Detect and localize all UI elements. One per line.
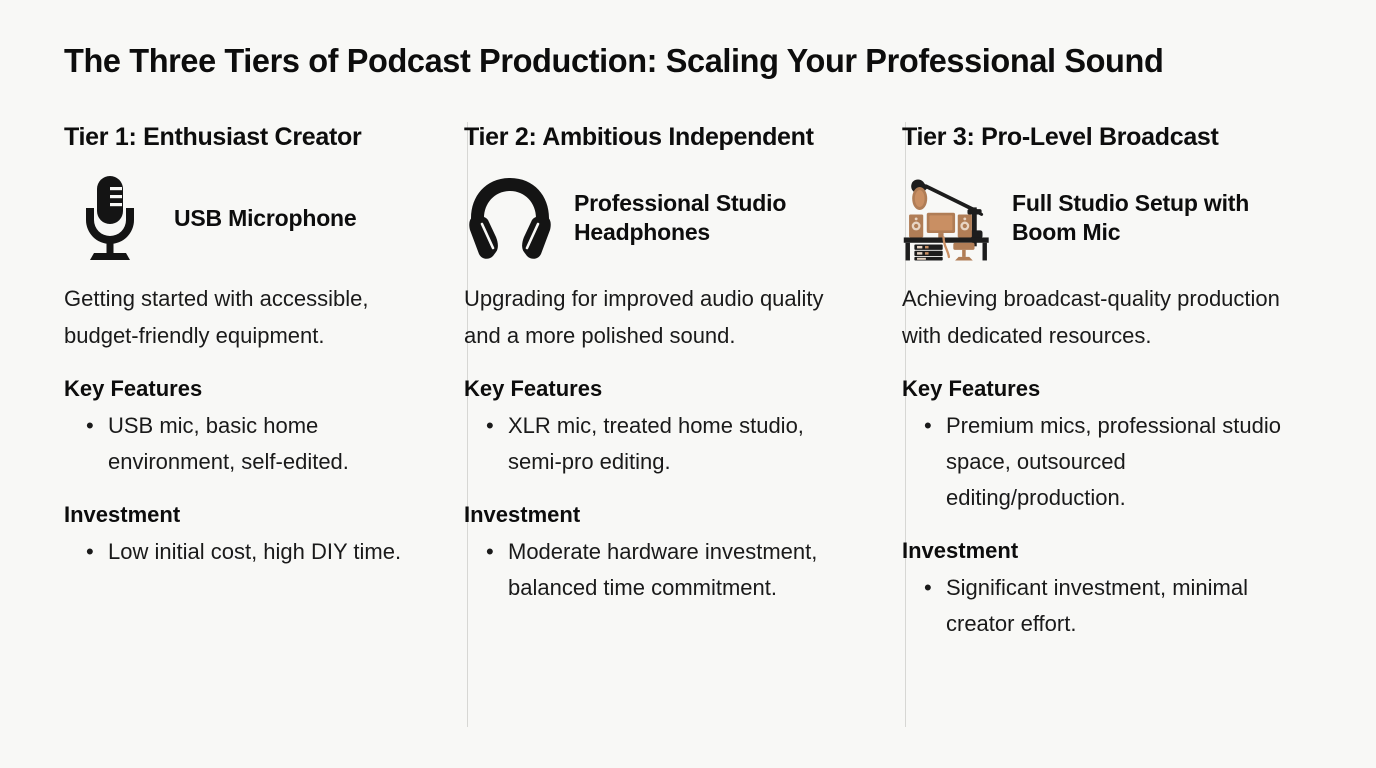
tier-3-icon-row: Full Studio Setup with Boom Mic <box>902 172 1318 264</box>
tier-2-key-features-section: Key Features XLR mic, treated home studi… <box>464 374 848 480</box>
tier-2-key-features-title: Key Features <box>464 374 848 404</box>
list-item: Premium mics, professional studio space,… <box>924 408 1294 516</box>
tier-1-investment-list: Low initial cost, high DIY time. <box>64 534 410 570</box>
tier-2-icon-row: Professional Studio Headphones <box>464 172 848 264</box>
list-item: XLR mic, treated home studio, semi-pro e… <box>486 408 836 480</box>
tier-3-investment-list: Significant investment, minimal creator … <box>902 570 1318 642</box>
tier-1-investment-title: Investment <box>64 500 410 530</box>
list-item: USB mic, basic home environment, self-ed… <box>86 408 410 480</box>
tier-1-key-features-list: USB mic, basic home environment, self-ed… <box>64 408 410 480</box>
tier-1-icon-row: USB Microphone <box>64 172 410 264</box>
tier-2-heading: Tier 2: Ambitious Independent <box>464 122 848 152</box>
tier-3-key-features-section: Key Features Premium mics, professional … <box>902 374 1318 516</box>
tier-1-investment-section: Investment Low initial cost, high DIY ti… <box>64 500 410 570</box>
tier-2-investment-title: Investment <box>464 500 848 530</box>
tier-3-item-name: Full Studio Setup with Boom Mic <box>1012 189 1318 247</box>
tier-3-key-features-title: Key Features <box>902 374 1318 404</box>
tier-3-investment-section: Investment Significant investment, minim… <box>902 536 1318 642</box>
tier-2-description: Upgrading for improved audio quality and… <box>464 280 824 354</box>
tier-2-item-name: Professional Studio Headphones <box>574 189 848 247</box>
tier-column-3: Tier 3: Pro-Level Broadcast <box>876 122 1346 732</box>
list-item: Moderate hardware investment, balanced t… <box>486 534 836 606</box>
infographic-root: The Three Tiers of Podcast Production: S… <box>0 0 1376 768</box>
tier-1-heading: Tier 1: Enthusiast Creator <box>64 122 410 152</box>
headphones-icon <box>464 172 556 264</box>
tier-columns: Tier 1: Enthusiast Creator <box>0 122 1376 732</box>
tier-3-description: Achieving broadcast-quality production w… <box>902 280 1282 354</box>
tier-2-key-features-list: XLR mic, treated home studio, semi-pro e… <box>464 408 848 480</box>
tier-3-key-features-list: Premium mics, professional studio space,… <box>902 408 1318 516</box>
tier-1-key-features-title: Key Features <box>64 374 410 404</box>
tier-1-description: Getting started with accessible, budget-… <box>64 280 410 354</box>
tier-1-item-name: USB Microphone <box>174 204 356 233</box>
tier-1-key-features-section: Key Features USB mic, basic home environ… <box>64 374 410 480</box>
studio-desk-boom-mic-icon <box>902 172 994 264</box>
tier-2-investment-list: Moderate hardware investment, balanced t… <box>464 534 848 606</box>
list-item: Low initial cost, high DIY time. <box>86 534 410 570</box>
tier-column-1: Tier 1: Enthusiast Creator <box>0 122 438 732</box>
tier-3-heading: Tier 3: Pro-Level Broadcast <box>902 122 1318 152</box>
page-title: The Three Tiers of Podcast Production: S… <box>64 40 1305 82</box>
tier-2-investment-section: Investment Moderate hardware investment,… <box>464 500 848 606</box>
tier-3-investment-title: Investment <box>902 536 1318 566</box>
list-item: Significant investment, minimal creator … <box>924 570 1294 642</box>
tier-column-2: Tier 2: Ambitious Independent <box>438 122 876 732</box>
microphone-icon <box>64 172 156 264</box>
